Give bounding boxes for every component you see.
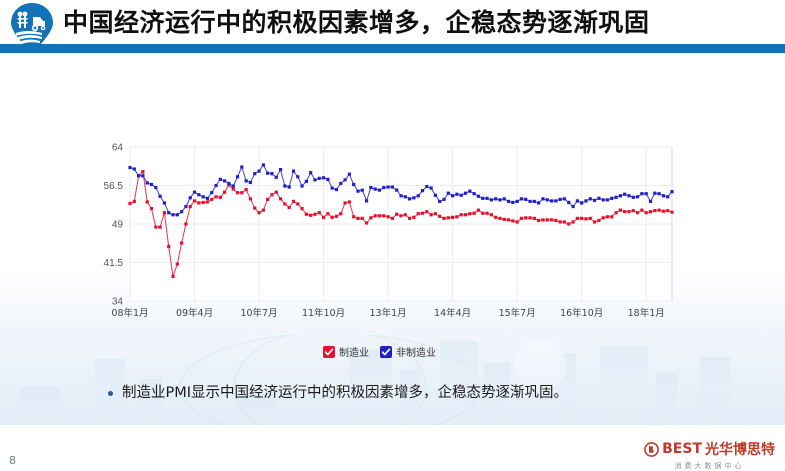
data-point (473, 212, 476, 215)
data-point (214, 184, 217, 187)
data-point (326, 212, 329, 215)
data-point (374, 187, 377, 190)
data-point (468, 212, 471, 215)
data-point (494, 197, 497, 200)
data-point (554, 219, 557, 222)
data-point (245, 179, 248, 182)
data-point (154, 186, 157, 189)
data-point (210, 198, 213, 201)
header-accent-bar (0, 44, 785, 53)
data-point (305, 213, 308, 216)
data-point (649, 210, 652, 213)
data-point (537, 201, 540, 204)
data-point (288, 185, 291, 188)
legend-swatch-non-manufacturing (379, 345, 391, 357)
data-point (404, 195, 407, 198)
data-point (180, 210, 183, 213)
data-point (516, 220, 519, 223)
data-point (425, 210, 428, 213)
data-point (434, 212, 437, 215)
data-point (232, 184, 235, 187)
data-point (606, 198, 609, 201)
data-point (546, 198, 549, 201)
data-point (283, 184, 286, 187)
data-point (421, 189, 424, 192)
data-point (339, 212, 342, 215)
data-point (412, 196, 415, 199)
data-point (658, 209, 661, 212)
slide-body: 3441.54956.56408年1月09年4月10年7月11年10月13年1月… (0, 53, 785, 425)
data-point (602, 216, 605, 219)
data-point (550, 199, 553, 202)
data-point (369, 186, 372, 189)
data-point (309, 214, 312, 217)
data-point (662, 194, 665, 197)
data-point (571, 205, 574, 208)
data-point (408, 197, 411, 200)
data-point (387, 185, 390, 188)
data-point (300, 207, 303, 210)
data-point (662, 210, 665, 213)
data-point (404, 213, 407, 216)
data-point (378, 214, 381, 217)
data-point (559, 198, 562, 201)
x-axis-tick-label: 11年10月 (302, 307, 345, 319)
data-point (262, 163, 265, 166)
data-point (382, 214, 385, 217)
data-point (223, 179, 226, 182)
data-point (649, 200, 652, 203)
data-point (395, 213, 398, 216)
data-point (133, 200, 136, 203)
data-point (589, 217, 592, 220)
data-point (451, 194, 454, 197)
legend-label-non-manufacturing: 非制造业 (396, 344, 436, 359)
pmi-line-chart: 3441.54956.56408年1月09年4月10年7月11年10月13年1月… (88, 135, 688, 335)
data-point (184, 205, 187, 208)
data-point (546, 218, 549, 221)
x-axis-tick-label: 08年1月 (111, 307, 148, 319)
data-point (537, 219, 540, 222)
brand-mark: BEST (662, 441, 702, 457)
brand-name: 光华博思特 (705, 439, 775, 459)
data-point (576, 199, 579, 202)
data-point (128, 202, 131, 205)
data-point (313, 178, 316, 181)
data-point (202, 201, 205, 204)
data-point (352, 183, 355, 186)
data-point (253, 172, 256, 175)
data-point (593, 220, 596, 223)
data-point (219, 178, 222, 181)
data-point (167, 211, 170, 214)
data-point (528, 216, 531, 219)
data-point (602, 198, 605, 201)
data-point (343, 178, 346, 181)
data-point (300, 184, 303, 187)
data-point (666, 209, 669, 212)
data-point (498, 217, 501, 220)
x-axis-tick-label: 14年4月 (434, 307, 471, 319)
data-point (430, 186, 433, 189)
data-point (541, 197, 544, 200)
data-point (464, 192, 467, 195)
data-point (593, 199, 596, 202)
data-point (623, 193, 626, 196)
legend-label-manufacturing: 制造业 (339, 344, 369, 359)
data-point (141, 174, 144, 177)
data-point (438, 215, 441, 218)
data-point (369, 216, 372, 219)
data-point (378, 189, 381, 192)
data-point (146, 200, 149, 203)
data-point (640, 209, 643, 212)
data-point (387, 215, 390, 218)
data-point (460, 194, 463, 197)
data-point (391, 185, 394, 188)
x-axis-tick-label: 09年4月 (176, 307, 213, 319)
data-point (176, 213, 179, 216)
data-point (318, 177, 321, 180)
data-point (498, 198, 501, 201)
data-point (619, 194, 622, 197)
data-point (184, 222, 187, 225)
data-point (434, 194, 437, 197)
data-point (197, 193, 200, 196)
data-point (262, 209, 265, 212)
slide: 中国经济运行中的积极因素增多，企稳态势逐渐巩固 (0, 0, 785, 425)
data-point (210, 191, 213, 194)
data-point (627, 210, 630, 213)
data-point (481, 212, 484, 215)
data-point (571, 220, 574, 223)
data-point (348, 173, 351, 176)
data-point (171, 275, 174, 278)
data-point (507, 200, 510, 203)
data-point (494, 216, 497, 219)
data-point (275, 176, 278, 179)
data-point (202, 195, 205, 198)
data-point (507, 218, 510, 221)
data-point (490, 213, 493, 216)
data-point (460, 213, 463, 216)
data-point (189, 196, 192, 199)
data-point (614, 196, 617, 199)
data-point (322, 176, 325, 179)
page-title: 中国经济运行中的积极因素增多，企稳态势逐渐巩固 (63, 3, 650, 39)
data-point (275, 191, 278, 194)
data-point (528, 200, 531, 203)
data-point (279, 197, 282, 200)
data-point (417, 194, 420, 197)
data-point (352, 215, 355, 218)
data-point (395, 189, 398, 192)
data-point (232, 187, 235, 190)
y-axis-tick-label: 56.5 (104, 181, 124, 192)
data-point (653, 192, 656, 195)
bullet-point: 制造业PMI显示中国经济运行中的积极因素增多，企稳态势逐渐巩固。 (108, 383, 728, 403)
data-point (614, 211, 617, 214)
data-point (240, 165, 243, 168)
legend-swatch-manufacturing (322, 345, 334, 357)
data-point (159, 195, 162, 198)
data-point (206, 197, 209, 200)
data-point (296, 202, 299, 205)
chart-legend: 制造业 非制造业 (322, 341, 482, 361)
data-point (335, 188, 338, 191)
data-point (391, 217, 394, 220)
data-point (412, 216, 415, 219)
data-point (176, 262, 179, 265)
data-point (632, 196, 635, 199)
data-point (249, 197, 252, 200)
bullet-text: 制造业PMI显示中国经济运行中的积极因素增多，企稳态势逐渐巩固。 (122, 383, 568, 403)
data-point (550, 218, 553, 221)
data-point (417, 212, 420, 215)
data-point (399, 214, 402, 217)
legend-item-manufacturing[interactable]: 制造业 (322, 344, 369, 359)
data-point (503, 197, 506, 200)
x-axis-tick-label: 16年10月 (560, 307, 603, 319)
data-point (610, 215, 613, 218)
data-point (343, 201, 346, 204)
data-point (464, 213, 467, 216)
data-point (606, 215, 609, 218)
data-point (425, 185, 428, 188)
data-point (270, 172, 273, 175)
data-point (219, 196, 222, 199)
data-point (524, 198, 527, 201)
data-point (322, 216, 325, 219)
data-point (653, 209, 656, 212)
data-point (541, 218, 544, 221)
data-point (270, 193, 273, 196)
y-axis-tick-label: 64 (112, 143, 124, 154)
data-point (455, 215, 458, 218)
data-point (524, 216, 527, 219)
data-point (597, 219, 600, 222)
data-point (141, 170, 144, 173)
data-point (193, 191, 196, 194)
data-point (645, 211, 648, 214)
data-point (627, 194, 630, 197)
data-point (296, 175, 299, 178)
data-point (361, 189, 364, 192)
data-point (128, 166, 131, 169)
data-point (477, 209, 480, 212)
data-point (408, 217, 411, 220)
data-point (636, 211, 639, 214)
data-point (163, 211, 166, 214)
data-point (520, 217, 523, 220)
data-point (331, 216, 334, 219)
data-point (137, 174, 140, 177)
data-point (533, 200, 536, 203)
data-point (150, 183, 153, 186)
data-point (318, 211, 321, 214)
data-point (257, 211, 260, 214)
data-point (447, 216, 450, 219)
data-point (442, 217, 445, 220)
data-point (666, 195, 669, 198)
data-point (257, 170, 260, 173)
y-axis-tick-label: 41.5 (104, 258, 124, 269)
data-point (636, 195, 639, 198)
data-point (292, 170, 295, 173)
data-point (180, 241, 183, 244)
data-point (365, 199, 368, 202)
data-point (421, 212, 424, 215)
data-point (399, 194, 402, 197)
data-point (430, 213, 433, 216)
data-point (249, 181, 252, 184)
data-point (253, 206, 256, 209)
data-point (447, 192, 450, 195)
data-point (511, 201, 514, 204)
brand-logo: BEST 光华博思特 消费大数据中心 (644, 439, 775, 471)
data-point (240, 191, 243, 194)
data-point (171, 213, 174, 216)
x-axis-tick-label: 10年7月 (240, 307, 277, 319)
data-point (167, 245, 170, 248)
data-point (442, 198, 445, 201)
data-point (485, 197, 488, 200)
page-number: 8 (9, 454, 16, 467)
data-point (266, 198, 269, 201)
data-point (576, 217, 579, 220)
data-point (365, 221, 368, 224)
data-point (580, 201, 583, 204)
brand-logo-top: BEST 光华博思特 (644, 439, 775, 459)
brand-circle-b-icon (644, 442, 659, 457)
data-point (236, 175, 239, 178)
slide-header: 中国经济运行中的积极因素增多，企稳态势逐渐巩固 (0, 0, 785, 46)
data-point (214, 195, 217, 198)
data-point (223, 191, 226, 194)
data-point (206, 200, 209, 203)
data-point (563, 220, 566, 223)
data-point (645, 192, 648, 195)
data-point (490, 198, 493, 201)
data-point (374, 214, 377, 217)
y-axis-tick-label: 49 (112, 220, 124, 231)
x-axis-tick-label: 13年1月 (370, 307, 407, 319)
data-point (580, 217, 583, 220)
data-point (597, 197, 600, 200)
data-point (339, 182, 342, 185)
data-point (451, 216, 454, 219)
data-point (438, 200, 441, 203)
data-point (133, 167, 136, 170)
bullet-dot-icon (108, 391, 113, 396)
data-point (610, 197, 613, 200)
data-point (361, 217, 364, 220)
data-point (559, 220, 562, 223)
data-point (567, 201, 570, 204)
data-point (382, 186, 385, 189)
data-point (670, 211, 673, 214)
x-axis-tick-label: 18年1月 (628, 307, 665, 319)
data-point (356, 190, 359, 193)
data-point (313, 213, 316, 216)
data-point (335, 215, 338, 218)
data-point (584, 217, 587, 220)
data-point (455, 193, 458, 196)
data-point (670, 190, 673, 193)
data-point (520, 197, 523, 200)
y-axis-tick-label: 34 (112, 297, 124, 308)
data-point (477, 195, 480, 198)
data-point (189, 205, 192, 208)
data-point (154, 225, 157, 228)
legend-item-non-manufacturing[interactable]: 非制造业 (379, 344, 436, 359)
data-point (468, 190, 471, 193)
data-point (481, 197, 484, 200)
data-point (331, 186, 334, 189)
data-point (305, 180, 308, 183)
data-point (640, 192, 643, 195)
x-axis-tick-label: 15年7月 (499, 307, 536, 319)
data-point (658, 192, 661, 195)
brand-subtitle: 消费大数据中心 (675, 461, 745, 471)
data-point (554, 199, 557, 202)
data-point (292, 200, 295, 203)
data-point (236, 191, 239, 194)
data-point (632, 209, 635, 212)
data-point (589, 197, 592, 200)
data-point (485, 212, 488, 215)
data-point (348, 200, 351, 203)
data-point (245, 188, 248, 191)
data-point (623, 210, 626, 213)
data-point (197, 201, 200, 204)
data-point (163, 201, 166, 204)
data-point (516, 200, 519, 203)
data-point (619, 209, 622, 212)
data-point (159, 225, 162, 228)
data-point (533, 217, 536, 220)
data-point (511, 219, 514, 222)
data-point (266, 172, 269, 175)
data-point (563, 197, 566, 200)
data-point (309, 171, 312, 174)
data-point (283, 202, 286, 205)
data-point (503, 218, 506, 221)
data-point (150, 207, 153, 210)
data-point (356, 217, 359, 220)
data-point (473, 192, 476, 195)
data-point (288, 206, 291, 209)
data-point (567, 222, 570, 225)
data-point (584, 199, 587, 202)
data-point (193, 199, 196, 202)
data-point (326, 178, 329, 181)
data-point (227, 182, 230, 185)
data-point (146, 181, 149, 184)
data-point (279, 168, 282, 171)
